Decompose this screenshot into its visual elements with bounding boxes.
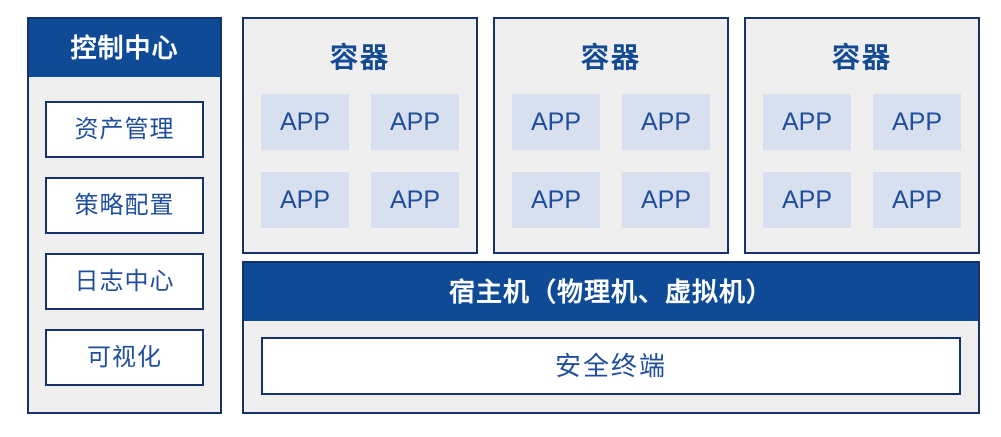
architecture-diagram: 控制中心 资产管理 策略配置 日志中心 可视化 容器 APP xyxy=(0,0,1001,437)
app-label: APP xyxy=(782,188,832,213)
control-center-item-asset-management[interactable]: 资产管理 xyxy=(45,101,204,158)
control-center-item-label: 可视化 xyxy=(87,346,162,370)
control-center-item-log-center[interactable]: 日志中心 xyxy=(45,253,204,310)
app-label: APP xyxy=(390,188,440,213)
app-grid: APP APP APP APP xyxy=(512,94,710,228)
host-machine-body: 安全终端 xyxy=(244,321,978,412)
security-endpoint-label: 安全终端 xyxy=(555,353,667,379)
app-label: APP xyxy=(390,110,440,135)
app-box[interactable]: APP xyxy=(622,172,710,228)
control-center-item-label: 资产管理 xyxy=(75,118,175,142)
container-box-3: 容器 APP APP APP APP xyxy=(744,17,980,254)
container-title: 容器 xyxy=(581,44,641,72)
control-center-panel: 控制中心 资产管理 策略配置 日志中心 可视化 xyxy=(27,17,222,414)
app-box[interactable]: APP xyxy=(763,94,851,150)
app-box[interactable]: APP xyxy=(261,94,349,150)
control-center-header: 控制中心 xyxy=(29,19,220,77)
app-box[interactable]: APP xyxy=(763,172,851,228)
app-label: APP xyxy=(782,110,832,135)
container-box-1: 容器 APP APP APP APP xyxy=(242,17,478,254)
app-box[interactable]: APP xyxy=(371,172,459,228)
host-machine-box: 宿主机（物理机、虚拟机） 安全终端 xyxy=(242,261,980,414)
control-center-item-label: 日志中心 xyxy=(75,270,175,294)
app-grid: APP APP APP APP xyxy=(763,94,961,228)
app-box[interactable]: APP xyxy=(873,172,961,228)
app-box[interactable]: APP xyxy=(622,94,710,150)
control-center-item-policy-configuration[interactable]: 策略配置 xyxy=(45,177,204,234)
app-box[interactable]: APP xyxy=(512,172,600,228)
app-box[interactable]: APP xyxy=(512,94,600,150)
app-label: APP xyxy=(280,110,330,135)
containers-row: 容器 APP APP APP APP 容器 APP xyxy=(242,17,980,254)
app-label: APP xyxy=(280,188,330,213)
container-box-2: 容器 APP APP APP APP xyxy=(493,17,729,254)
app-grid: APP APP APP APP xyxy=(261,94,459,228)
control-center-header-label: 控制中心 xyxy=(70,35,178,61)
app-box[interactable]: APP xyxy=(371,94,459,150)
app-label: APP xyxy=(531,188,581,213)
app-label: APP xyxy=(531,110,581,135)
app-label: APP xyxy=(641,110,691,135)
app-label: APP xyxy=(641,188,691,213)
control-center-item-label: 策略配置 xyxy=(75,194,175,218)
app-box[interactable]: APP xyxy=(873,94,961,150)
control-center-item-visualization[interactable]: 可视化 xyxy=(45,329,204,386)
app-label: APP xyxy=(892,188,942,213)
container-title: 容器 xyxy=(330,44,390,72)
host-machine-header-label: 宿主机（物理机、虚拟机） xyxy=(449,279,773,305)
app-box[interactable]: APP xyxy=(261,172,349,228)
security-endpoint-box[interactable]: 安全终端 xyxy=(261,337,961,395)
container-title: 容器 xyxy=(832,44,892,72)
host-machine-header: 宿主机（物理机、虚拟机） xyxy=(244,263,978,321)
control-center-item-list: 资产管理 策略配置 日志中心 可视化 xyxy=(29,77,220,416)
app-label: APP xyxy=(892,110,942,135)
